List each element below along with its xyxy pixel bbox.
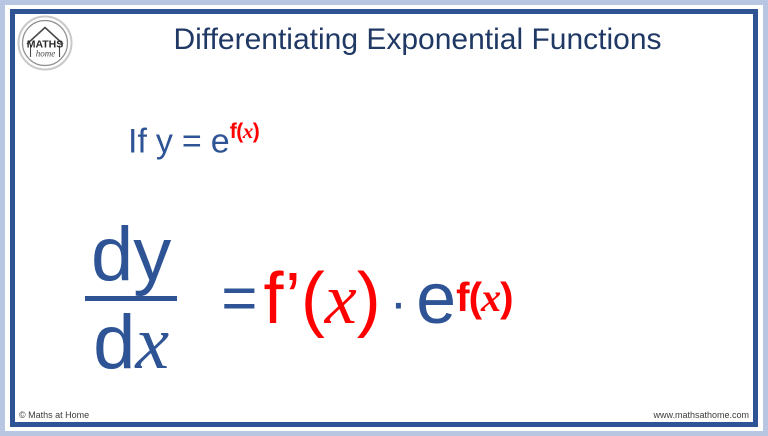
- premise-exponent-x: x: [243, 119, 253, 143]
- equation-right-hand-side: f’(x)·ef(x): [264, 263, 513, 335]
- derivative-x: x: [325, 259, 357, 339]
- page-title: Differentiating Exponential Functions: [90, 20, 745, 60]
- slide-content-area: MATHS home Differentiating Exponential F…: [15, 14, 753, 422]
- fraction-denominator: dx: [87, 306, 175, 380]
- multiplication-dot: ·: [381, 277, 416, 329]
- premise-variable: y: [156, 122, 173, 160]
- numerator-d: d: [91, 212, 133, 297]
- denominator-d: d: [93, 300, 135, 385]
- derivative-prime: ’: [285, 259, 301, 339]
- denominator-variable: x: [135, 301, 169, 385]
- premise-expression: Ify=ef(x): [128, 111, 259, 163]
- derivative-f: f: [264, 259, 285, 339]
- exponent-close-paren: ): [500, 274, 512, 320]
- footer-copyright: © Maths at Home: [19, 410, 89, 420]
- derivative-open-paren: (: [301, 259, 325, 339]
- slide-canvas: MATHS home Differentiating Exponential F…: [0, 0, 768, 436]
- premise-equals: =: [182, 122, 202, 160]
- derivative-close-paren: ): [357, 259, 381, 339]
- premise-base: e: [211, 122, 230, 160]
- premise-exponent: f(x): [230, 120, 260, 143]
- exponent-open-paren: (: [469, 274, 481, 320]
- derivative-fraction: dy dx: [85, 218, 177, 380]
- exponential-base: e: [416, 263, 456, 335]
- premise-exponent-close-paren: ): [253, 120, 260, 143]
- exponent-f: f: [456, 274, 468, 320]
- main-equation: dy dx = f’(x)·ef(x): [85, 204, 745, 394]
- fraction-numerator: dy: [85, 218, 177, 292]
- numerator-variable: y: [133, 212, 171, 297]
- maths-at-home-logo: MATHS home: [16, 14, 74, 72]
- footer-website: www.mathsathome.com: [653, 410, 749, 420]
- equation-equals-sign: =: [221, 268, 257, 330]
- derivative-term: f’(x): [264, 263, 381, 335]
- premise-prefix: If: [128, 122, 147, 160]
- exponent-x: x: [481, 275, 500, 320]
- exponential-exponent: f(x): [456, 277, 512, 318]
- logo-script-text: home: [36, 49, 56, 59]
